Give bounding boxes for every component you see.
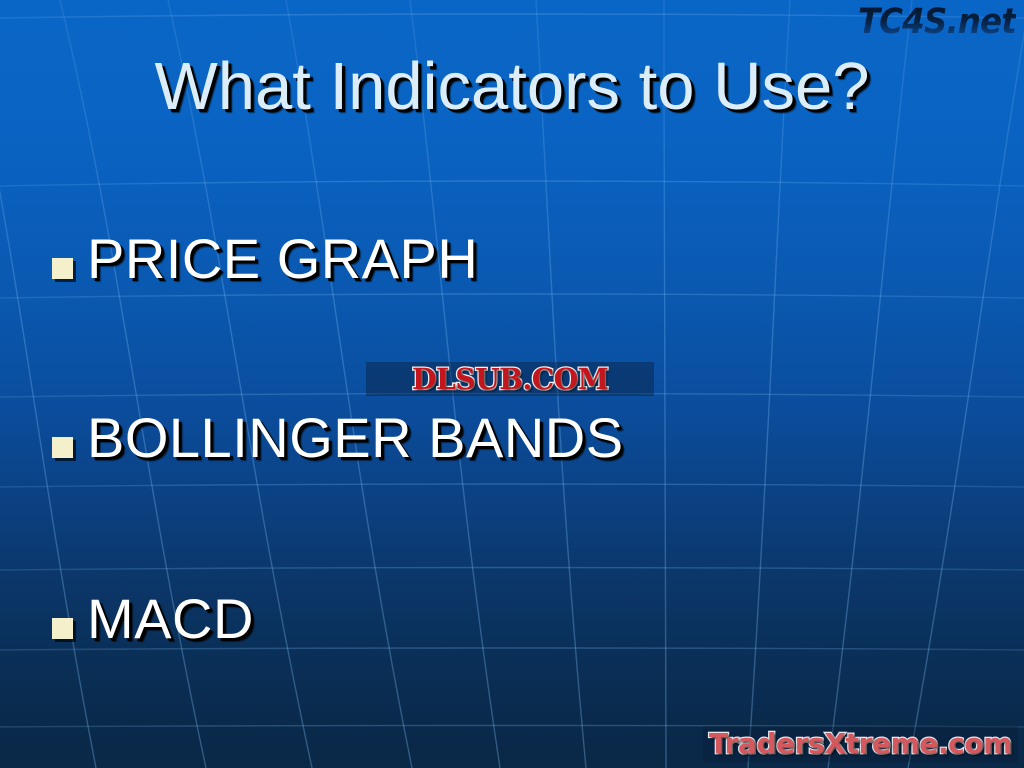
dlsub-watermark: DLSUB.COM bbox=[366, 362, 654, 396]
square-bullet-icon bbox=[52, 437, 73, 458]
bullet-item-macd: MACD bbox=[52, 588, 254, 650]
bullet-item-bollinger-bands: BOLLINGER BANDS bbox=[52, 407, 624, 469]
tradersxtreme-watermark: TradersXtreme.com bbox=[703, 726, 1018, 762]
dlsub-watermark-text: DLSUB.COM bbox=[412, 364, 608, 395]
bullet-item-label: BOLLINGER BANDS bbox=[87, 407, 624, 469]
bullet-item-price-graph: PRICE GRAPH bbox=[52, 228, 478, 290]
square-bullet-icon bbox=[52, 258, 73, 279]
presentation-slide: TC4S.net What Indicators to Use? PRICE G… bbox=[0, 0, 1024, 768]
square-bullet-icon bbox=[52, 618, 73, 639]
tradersxtreme-watermark-text: TradersXtreme.com bbox=[709, 727, 1012, 760]
bullet-item-label: PRICE GRAPH bbox=[87, 228, 478, 290]
bullet-item-label: MACD bbox=[87, 588, 254, 650]
